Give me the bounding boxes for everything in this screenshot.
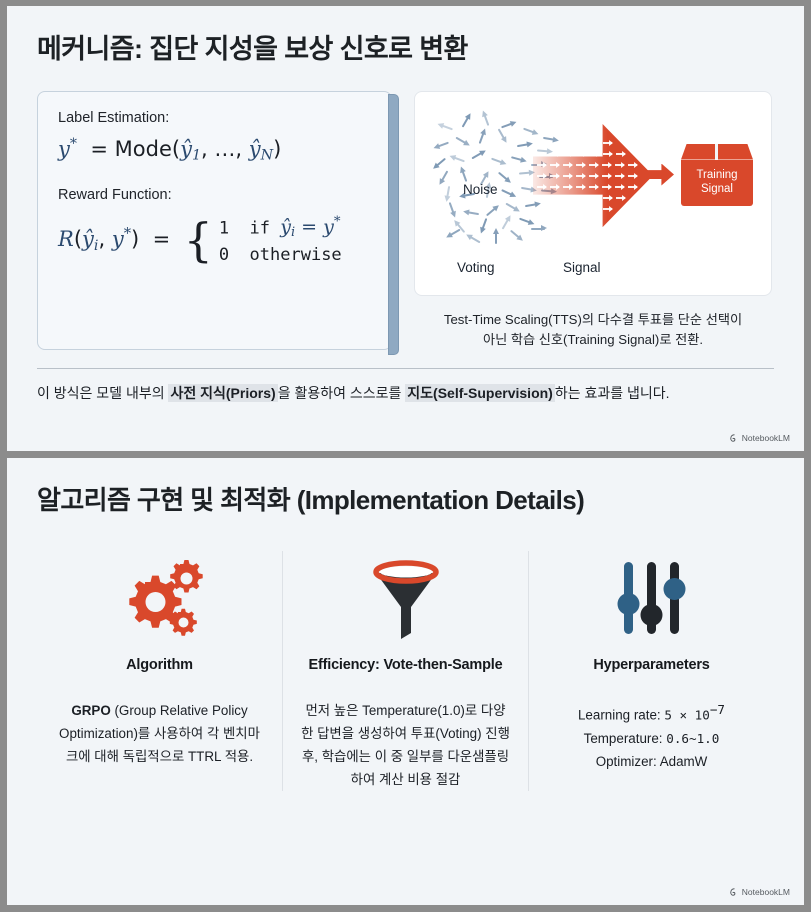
- column-heading-hyperparameters: Hyperparameters: [547, 657, 756, 673]
- cases-brace: {: [184, 222, 213, 259]
- slide-mechanism: 메커니즘: 집단 지성을 보상 신호로 변환 Label Estimation:…: [7, 6, 804, 451]
- note-highlight-priors: 사전 지식(Priors): [168, 384, 277, 402]
- reward-case-one: 1 if ŷi = y*: [219, 213, 342, 243]
- slide-deck-frame: 메커니즘: 집단 지성을 보상 신호로 변환 Label Estimation:…: [0, 0, 811, 912]
- divider: [37, 368, 774, 369]
- gears-icon-svg: [114, 556, 206, 642]
- watermark-label-2: NotebookLM: [742, 887, 790, 897]
- reward-case-zero: 0 otherwise: [219, 243, 342, 269]
- reward-function-formula: R(ŷi, y*) = { 1 if ŷi = y* 0 otherwise: [58, 213, 371, 268]
- temperature-label: Temperature:: [584, 731, 667, 746]
- caption-line-2: 아닌 학습 신호(Training Signal)로 전환.: [414, 330, 772, 350]
- note-part-3: 하는 효과를 냅니다.: [555, 385, 670, 401]
- hyperparam-line-temperature: Temperature: 0.6~1.0: [547, 727, 756, 750]
- illustration-caption: Test-Time Scaling(TTS)의 다수결 투표를 단순 선택이 아…: [414, 310, 772, 351]
- illustration-column: Noise Training Signal Voting Signal: [414, 91, 772, 351]
- column-efficiency: Efficiency: Vote-then-Sample 먼저 높은 Tempe…: [282, 551, 528, 791]
- reward-function-label: Reward Function:: [58, 187, 371, 203]
- label-estimation-label: Label Estimation:: [58, 110, 371, 126]
- illustration-card: Noise Training Signal Voting Signal: [414, 91, 772, 296]
- gears-icon: [55, 551, 264, 647]
- signal-label: Signal: [563, 260, 601, 275]
- summary-note: 이 방식은 모델 내부의 사전 지식(Priors)을 활용하여 스스로를 지도…: [37, 383, 774, 403]
- formula-card: Label Estimation: y* = Mode(ŷ1, …, ŷN) R…: [37, 91, 392, 351]
- noise-label: Noise: [463, 182, 498, 197]
- label-estimation-formula: y* = Mode(ŷ1, …, ŷN): [58, 136, 371, 164]
- notebooklm-logo-icon: [730, 434, 739, 443]
- inner-arrows-group: [537, 136, 649, 216]
- note-highlight-self-supervision: 지도(Self-Supervision): [405, 384, 555, 402]
- column-body-algorithm: GRPO (Group Relative Policy Optimization…: [55, 699, 264, 768]
- funnel-icon-svg: [370, 559, 442, 639]
- voting-label: Voting: [457, 260, 495, 275]
- learning-rate-label: Learning rate:: [578, 708, 664, 723]
- optimizer-value: AdamW: [660, 754, 708, 769]
- note-part-2: 을 활용하여 스스로를: [278, 385, 406, 401]
- column-heading-efficiency: Efficiency: Vote-then-Sample: [301, 657, 510, 673]
- box-body: Training Signal: [681, 160, 753, 206]
- slide-implementation: 알고리즘 구현 및 최적화 (Implementation Details): [7, 458, 804, 905]
- hyperparam-line-optimizer: Optimizer: AdamW: [547, 750, 756, 773]
- learning-rate-value: 5 × 10: [664, 708, 710, 723]
- notebooklm-logo-icon-2: [730, 888, 739, 897]
- column-hyperparameters: Hyperparameters Learning rate: 5 × 10−7 …: [528, 551, 774, 791]
- feature-columns: Algorithm GRPO (Group Relative Policy Op…: [37, 551, 774, 791]
- learning-rate-exponent: −7: [710, 702, 725, 717]
- optimizer-label: Optimizer:: [596, 754, 660, 769]
- watermark-label: NotebookLM: [742, 433, 790, 443]
- funnel-icon: [301, 551, 510, 647]
- page-title-2: 알고리즘 구현 및 최적화 (Implementation Details): [37, 484, 637, 517]
- slide1-content: Label Estimation: y* = Mode(ŷ1, …, ŷN) R…: [37, 91, 774, 351]
- hyperparam-line-learning-rate: Learning rate: 5 × 10−7: [547, 699, 756, 727]
- box-label-line1: Training: [696, 169, 737, 183]
- page-title: 메커니즘: 집단 지성을 보상 신호로 변환: [37, 32, 774, 67]
- training-signal-box-icon: Training Signal: [681, 144, 753, 206]
- note-part-1: 이 방식은 모델 내부의: [37, 385, 168, 401]
- grpo-bold-term: GRPO: [71, 703, 110, 718]
- column-body-efficiency: 먼저 높은 Temperature(1.0)로 다양한 답변을 생성하여 투표(…: [301, 699, 510, 791]
- sliders-icon: [547, 551, 756, 647]
- column-algorithm: Algorithm GRPO (Group Relative Policy Op…: [37, 551, 282, 791]
- caption-line-1: Test-Time Scaling(TTS)의 다수결 투표를 단순 선택이: [414, 310, 772, 330]
- box-label-line2: Signal: [701, 183, 733, 197]
- notebooklm-watermark: NotebookLM: [730, 433, 790, 443]
- sliders-icon-svg: [611, 558, 693, 640]
- column-body-hyperparameters: Learning rate: 5 × 10−7 Temperature: 0.6…: [547, 699, 756, 773]
- box-lid: [681, 144, 753, 160]
- temperature-value: 0.6~1.0: [666, 731, 719, 746]
- column-heading-algorithm: Algorithm: [55, 657, 264, 673]
- notebooklm-watermark-2: NotebookLM: [730, 887, 790, 897]
